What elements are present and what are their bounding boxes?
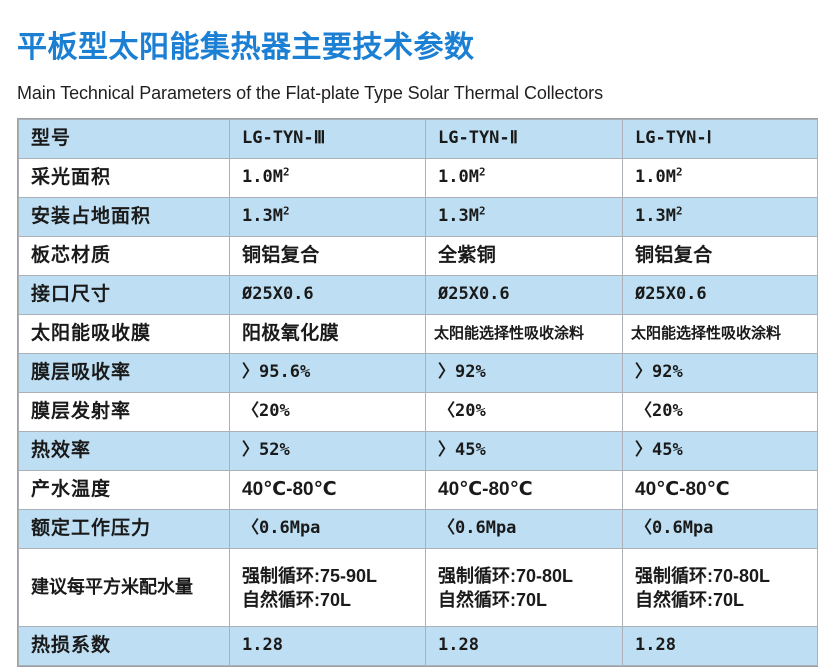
row-value-model-3: 〉95.6% <box>230 354 426 393</box>
value-line-1: 强制循环:70-80L <box>438 565 622 589</box>
superscript: 2 <box>479 166 486 179</box>
row-value-model-3: 〉52% <box>230 432 426 471</box>
value-line-1: 强制循环:75-90L <box>242 565 425 589</box>
row-value-model-1: 铜铝复合 <box>623 237 818 276</box>
row-value-model-2: 〈20% <box>426 393 623 432</box>
superscript: 2 <box>283 205 290 218</box>
page-subtitle-english: Main Technical Parameters of the Flat-pl… <box>17 84 603 102</box>
specifications-table-wrapper: 型号 LG-TYN-Ⅲ LG-TYN-Ⅱ LG-TYN-Ⅰ 采光面积 1.0M2… <box>17 118 818 667</box>
row-value-model-2: 1.3M2 <box>426 198 623 237</box>
row-value-model-3: 〈20% <box>230 393 426 432</box>
row-value-model-1: 强制循环:70-80L 自然循环:70L <box>623 549 818 627</box>
row-value-model-1: 太阳能选择性吸收涂料 <box>623 315 818 354</box>
table-row: 太阳能吸收膜 阳极氧化膜 太阳能选择性吸收涂料 太阳能选择性吸收涂料 <box>19 315 818 354</box>
row-label: 热损系数 <box>19 627 230 666</box>
row-label: 太阳能吸收膜 <box>19 315 230 354</box>
table-row: 膜层发射率 〈20% 〈20% 〈20% <box>19 393 818 432</box>
table-row: 额定工作压力 〈0.6Mpa 〈0.6Mpa 〈0.6Mpa <box>19 510 818 549</box>
row-value-model-2: Ø25X0.6 <box>426 276 623 315</box>
row-value-model-3: Ø25X0.6 <box>230 276 426 315</box>
row-label: 安装占地面积 <box>19 198 230 237</box>
row-value-model-3: LG-TYN-Ⅲ <box>230 120 426 159</box>
row-label: 型号 <box>19 120 230 159</box>
row-value-model-2: 〉45% <box>426 432 623 471</box>
row-label: 采光面积 <box>19 159 230 198</box>
row-value-model-3: 1.0M2 <box>230 159 426 198</box>
row-label: 热效率 <box>19 432 230 471</box>
row-label: 建议每平方米配水量 <box>19 549 230 627</box>
table-row: 热效率 〉52% 〉45% 〉45% <box>19 432 818 471</box>
superscript: 2 <box>676 166 683 179</box>
row-value-model-1: LG-TYN-Ⅰ <box>623 120 818 159</box>
row-value-model-1: 〈20% <box>623 393 818 432</box>
row-value-model-1: 40℃-80℃ <box>623 471 818 510</box>
row-value-model-2: 强制循环:70-80L 自然循环:70L <box>426 549 623 627</box>
value-line-2: 自然循环:70L <box>438 589 622 613</box>
row-value-model-3: 阳极氧化膜 <box>230 315 426 354</box>
table-row: 采光面积 1.0M2 1.0M2 1.0M2 <box>19 159 818 198</box>
row-value-model-2: LG-TYN-Ⅱ <box>426 120 623 159</box>
value-line-1: 强制循环:70-80L <box>635 565 817 589</box>
row-label: 接口尺寸 <box>19 276 230 315</box>
row-value-model-1: 〉92% <box>623 354 818 393</box>
row-value-model-3: 铜铝复合 <box>230 237 426 276</box>
table-row: 建议每平方米配水量 强制循环:75-90L 自然循环:70L 强制循环:70-8… <box>19 549 818 627</box>
row-value-model-3: 1.28 <box>230 627 426 666</box>
row-value-model-2: 〉92% <box>426 354 623 393</box>
row-value-model-2: 全紫铜 <box>426 237 623 276</box>
row-value-model-1: 〈0.6Mpa <box>623 510 818 549</box>
superscript: 2 <box>479 205 486 218</box>
row-label: 产水温度 <box>19 471 230 510</box>
row-value-model-3: 40℃-80℃ <box>230 471 426 510</box>
table-row: 型号 LG-TYN-Ⅲ LG-TYN-Ⅱ LG-TYN-Ⅰ <box>19 120 818 159</box>
table-row: 热损系数 1.28 1.28 1.28 <box>19 627 818 666</box>
row-label: 膜层吸收率 <box>19 354 230 393</box>
row-value-model-2: 40℃-80℃ <box>426 471 623 510</box>
row-label: 额定工作压力 <box>19 510 230 549</box>
table-row: 膜层吸收率 〉95.6% 〉92% 〉92% <box>19 354 818 393</box>
table-row: 产水温度 40℃-80℃ 40℃-80℃ 40℃-80℃ <box>19 471 818 510</box>
row-value-model-1: 1.28 <box>623 627 818 666</box>
row-value-model-2: 〈0.6Mpa <box>426 510 623 549</box>
table-row: 接口尺寸 Ø25X0.6 Ø25X0.6 Ø25X0.6 <box>19 276 818 315</box>
superscript: 2 <box>676 205 683 218</box>
row-value-model-2: 1.28 <box>426 627 623 666</box>
specifications-table: 型号 LG-TYN-Ⅲ LG-TYN-Ⅱ LG-TYN-Ⅰ 采光面积 1.0M2… <box>18 119 818 666</box>
value-line-2: 自然循环:70L <box>242 589 425 613</box>
page-root: 平板型太阳能集热器主要技术参数 Main Technical Parameter… <box>0 0 832 652</box>
value-line-2: 自然循环:70L <box>635 589 817 613</box>
row-value-model-3: 强制循环:75-90L 自然循环:70L <box>230 549 426 627</box>
row-label: 板芯材质 <box>19 237 230 276</box>
row-value-model-1: 1.3M2 <box>623 198 818 237</box>
row-value-model-2: 1.0M2 <box>426 159 623 198</box>
superscript: 2 <box>283 166 290 179</box>
table-row: 安装占地面积 1.3M2 1.3M2 1.3M2 <box>19 198 818 237</box>
table-row: 板芯材质 铜铝复合 全紫铜 铜铝复合 <box>19 237 818 276</box>
row-value-model-3: 〈0.6Mpa <box>230 510 426 549</box>
row-value-model-2: 太阳能选择性吸收涂料 <box>426 315 623 354</box>
row-value-model-3: 1.3M2 <box>230 198 426 237</box>
row-value-model-1: 1.0M2 <box>623 159 818 198</box>
row-value-model-1: Ø25X0.6 <box>623 276 818 315</box>
page-title-chinese: 平板型太阳能集热器主要技术参数 <box>17 33 475 63</box>
row-value-model-1: 〉45% <box>623 432 818 471</box>
row-label: 膜层发射率 <box>19 393 230 432</box>
